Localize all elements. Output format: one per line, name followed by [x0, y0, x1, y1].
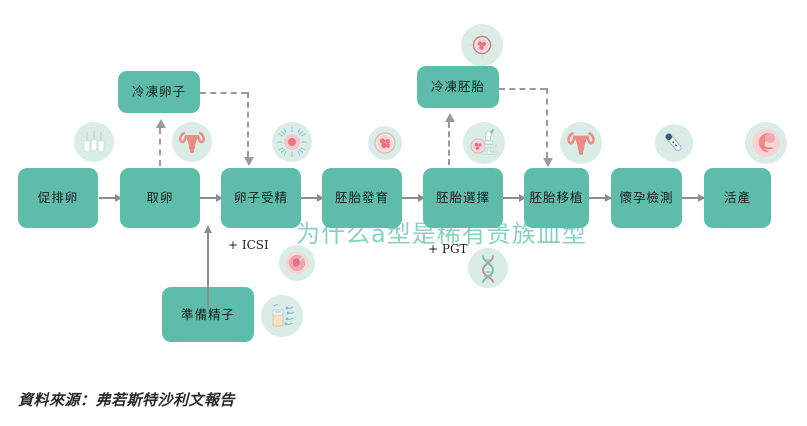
arrow-step3-step4 [301, 197, 323, 199]
step-box-promote-ovulation[interactable]: 促排卵 [18, 168, 98, 228]
branch-label: 準備精子 [181, 308, 235, 322]
sperm-sample-icon [261, 295, 303, 337]
source-note: 資料來源：弗若斯特沙利文報告 [18, 389, 235, 410]
step-box-egg-retrieval[interactable]: 取卵 [120, 168, 200, 228]
step-label: 胚胎發育 [335, 191, 389, 205]
annotation-pgt: + PGT [428, 242, 468, 256]
branch-box-frozen-embryos[interactable]: 冷凍胚胎 [417, 66, 499, 108]
step-label: 取卵 [146, 191, 173, 205]
dna-helix-icon [468, 248, 508, 288]
step-label: 促排卵 [38, 191, 79, 205]
arrow-step2-step3 [200, 197, 222, 199]
step-box-egg-fertilization[interactable]: 卵子受精 [221, 168, 301, 228]
step-label: 胚胎移植 [529, 191, 583, 205]
step-box-live-birth[interactable]: 活產 [704, 168, 771, 228]
dashed-line-frozen-eggs-right [200, 92, 247, 94]
arrow-step4-step5 [402, 197, 424, 199]
microscope-icon [463, 122, 505, 164]
uterus-icon [560, 122, 602, 164]
branch-box-frozen-eggs[interactable]: 冷凍卵子 [118, 71, 200, 113]
diagram-canvas: 为什么a型是稀有贵族血型 促排卵 取卵 卵子受精 胚胎發育 胚胎選擇 胚胎移植 … [0, 0, 807, 426]
arrow-step1-step2 [99, 197, 121, 199]
branch-label: 冷凍胚胎 [431, 80, 485, 94]
step-label: 胚胎選擇 [436, 191, 490, 205]
fetus-icon [745, 122, 787, 164]
step-label: 懷孕檢測 [619, 191, 673, 205]
pregnancy-test-icon [655, 124, 693, 162]
icsi-cell-icon [279, 245, 315, 281]
dashed-arrow-frozen-embryos-to-transfer [546, 88, 548, 158]
step-box-embryo-transfer[interactable]: 胚胎移植 [524, 168, 589, 228]
arrow-step6-step7 [589, 197, 611, 199]
arrow-step5-step6 [503, 197, 525, 199]
step-box-embryo-development[interactable]: 胚胎發育 [322, 168, 402, 228]
dashed-arrow-selection-to-frozen-embryos [448, 122, 450, 165]
step-box-pregnancy-test[interactable]: 懷孕檢測 [611, 168, 682, 228]
dashed-arrow-retrieval-to-frozen-eggs [159, 128, 161, 166]
step-box-embryo-selection[interactable]: 胚胎選擇 [423, 168, 503, 228]
embryo-cell-icon [461, 24, 503, 66]
dashed-arrow-frozen-eggs-to-fertilization [247, 92, 249, 157]
branch-label: 冷凍卵子 [132, 85, 186, 99]
fertilized-egg-icon [272, 122, 312, 162]
step-label: 活產 [724, 191, 751, 205]
uterus-icon [172, 122, 212, 162]
arrow-step7-step8 [682, 197, 704, 199]
annotation-icsi: + ICSI [228, 238, 269, 252]
step-label: 卵子受精 [234, 191, 288, 205]
vials-icon [74, 122, 114, 162]
line-sperm-box-to-arrow [207, 287, 209, 307]
dashed-line-frozen-embryos-right [499, 88, 546, 90]
embryo-icon [368, 126, 402, 160]
